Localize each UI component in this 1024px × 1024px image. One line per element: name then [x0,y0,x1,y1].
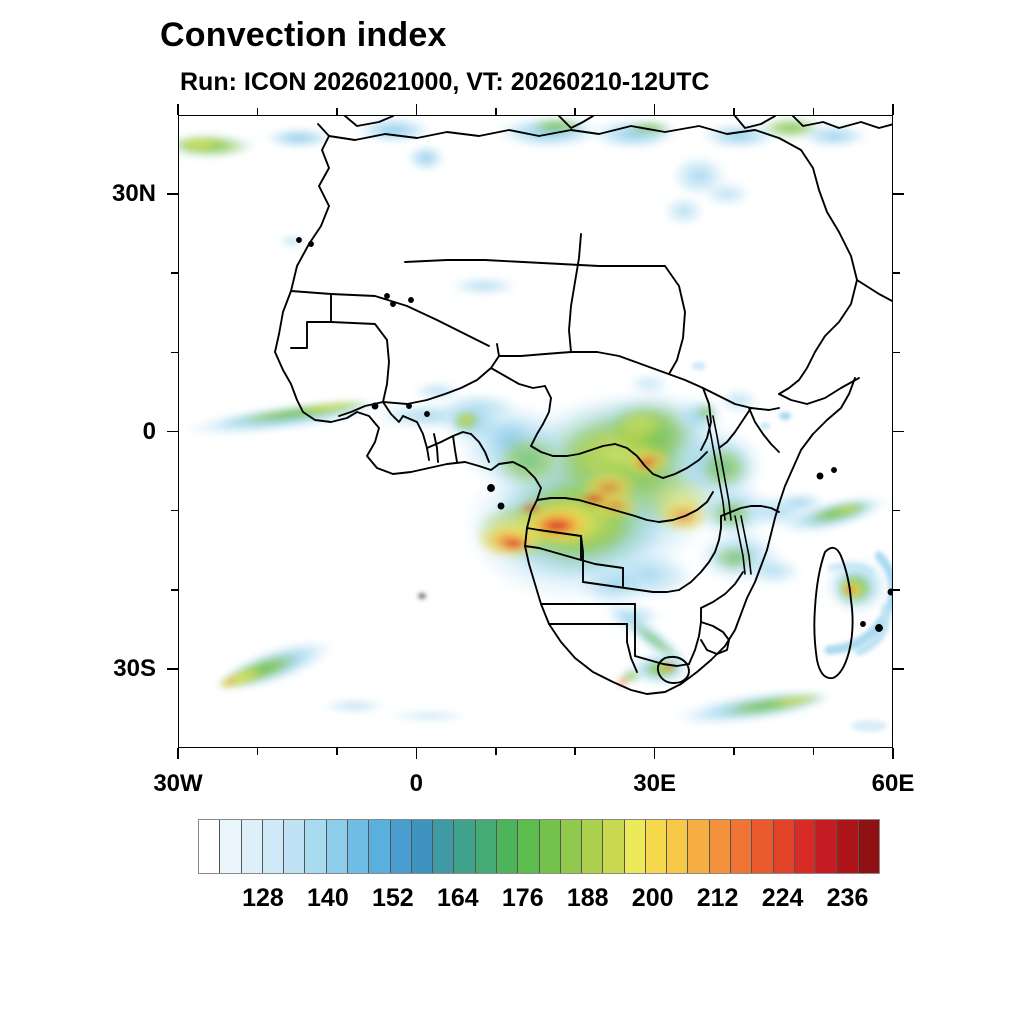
colorbar-cell [540,820,561,873]
x-tick-top [257,108,259,115]
y-tick [171,589,178,591]
colorbar-tick-label: 152 [372,884,414,913]
colorbar-cell [391,820,412,873]
y-tick-right [893,272,900,274]
colorbar-cell [625,820,646,873]
colorbar-cell [646,820,667,873]
y-axis-label: 30N [60,180,156,208]
x-tick [495,748,497,755]
colorbar-cell [667,820,688,873]
y-tick-right [893,589,900,591]
x-tick [177,748,179,759]
x-tick [574,748,576,755]
colorbar-cell [220,820,241,873]
colorbar-tick-label: 212 [697,884,739,913]
y-tick-right [893,431,904,433]
colorbar-cell [199,820,220,873]
x-tick [257,748,259,755]
colorbar-cell [263,820,284,873]
y-tick-right [893,668,904,670]
map-svg [179,116,892,747]
colorbar-cell [710,820,731,873]
x-tick-top [336,108,338,115]
colorbar-cell [305,820,326,873]
y-tick [171,272,178,274]
colorbar-tick-label: 164 [437,884,479,913]
x-tick [813,748,815,755]
colorbar-cell [497,820,518,873]
convection-field [179,116,892,734]
colorbar-cell [837,820,858,873]
x-tick-top [733,108,735,115]
colorbar-cell [327,820,348,873]
colorbar-cell [774,820,795,873]
figure-root: Convection index Run: ICON 2026021000, V… [0,0,1024,1024]
colorbar-cell [859,820,879,873]
colorbar-cell [603,820,624,873]
y-axis-label: 0 [60,418,156,446]
y-tick-right [893,510,900,512]
x-tick [416,748,418,759]
colorbar-cell [348,820,369,873]
colorbar-cell [752,820,773,873]
colorbar-cell [454,820,475,873]
x-tick-top [813,108,815,115]
colorbar-tick-label: 140 [307,884,349,913]
colorbar-cell [816,820,837,873]
x-tick-top [892,104,894,115]
y-tick-right [893,193,904,195]
x-tick-top [574,108,576,115]
x-tick [336,748,338,755]
colorbar-tick-label: 236 [827,884,869,913]
figure-subtitle: Run: ICON 2026021000, VT: 20260210-12UTC [180,68,709,97]
map-canvas [179,116,892,747]
y-tick [167,668,178,670]
colorbar-tick-label: 128 [242,884,284,913]
colorbar-cell [369,820,390,873]
colorbar-cell [561,820,582,873]
colorbar-cell [242,820,263,873]
colorbar[interactable] [198,819,880,874]
x-tick [733,748,735,755]
colorbar-tick-label: 224 [762,884,804,913]
colorbar-cell [795,820,816,873]
colorbar-cell [582,820,603,873]
y-axis-label: 30S [60,655,156,683]
y-tick [171,352,178,354]
x-tick [892,748,894,759]
colorbar-cell [731,820,752,873]
colorbar-cell [476,820,497,873]
map-plot-area[interactable] [178,115,893,748]
y-tick [171,510,178,512]
colorbar-cell [433,820,454,873]
x-tick-top [495,108,497,115]
colorbar-cell [284,820,305,873]
x-axis-label: 60E [872,770,915,798]
colorbar-tick-label: 200 [632,884,674,913]
x-axis-label: 0 [410,770,423,798]
x-tick-top [177,104,179,115]
x-tick-top [416,104,418,115]
colorbar-cell [518,820,539,873]
x-tick [654,748,656,759]
colorbar-cell [412,820,433,873]
x-axis-label: 30W [153,770,202,798]
colorbar-cell [688,820,709,873]
y-tick-right [893,352,900,354]
x-axis-label: 30E [633,770,676,798]
x-tick-top [654,104,656,115]
y-tick [167,193,178,195]
colorbar-tick-label: 188 [567,884,609,913]
y-tick [167,431,178,433]
colorbar-tick-label: 176 [502,884,544,913]
page-title: Convection index [160,16,447,55]
